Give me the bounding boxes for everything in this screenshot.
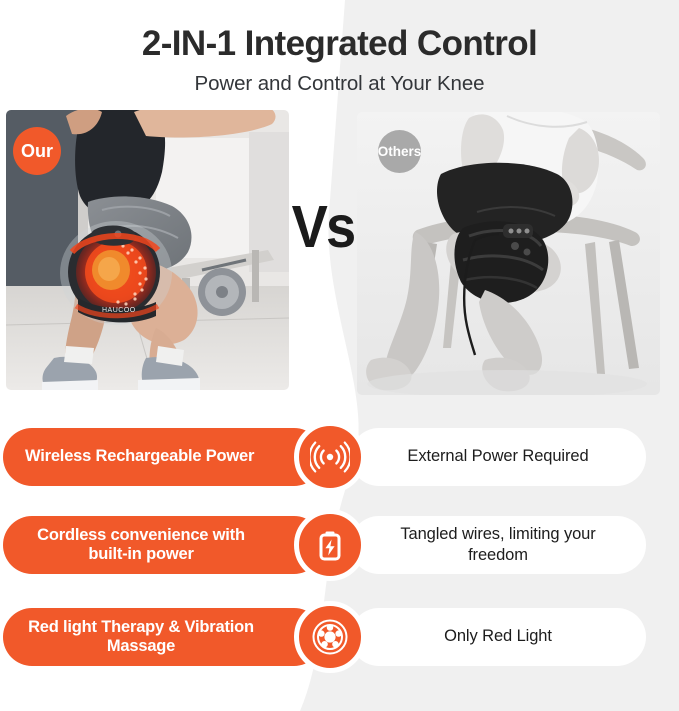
- our-feature-label: Red light Therapy & Vibration Massage: [21, 618, 261, 656]
- our-feature-label: Wireless Rechargeable Power: [25, 447, 254, 466]
- battery-charging-icon: [294, 509, 366, 581]
- page-title: 2-IN-1 Integrated Control: [0, 0, 679, 63]
- others-feature-label: Only Red Light: [444, 626, 552, 647]
- wireless-signal-icon: [294, 421, 366, 493]
- others-feature-label: External Power Required: [407, 446, 588, 467]
- our-feature-label: Cordless convenience with built-in power: [21, 526, 261, 564]
- others-feature-pill[interactable]: Only Red Light: [350, 608, 646, 666]
- our-badge-label: Our: [21, 141, 53, 162]
- comparison-rows: Wireless Rechargeable Power External Pow…: [0, 410, 679, 710]
- header: 2-IN-1 Integrated Control Power and Cont…: [0, 0, 679, 105]
- comparison-row: Wireless Rechargeable Power External Pow…: [0, 428, 679, 486]
- our-feature-pill[interactable]: Cordless convenience with built-in power: [3, 516, 323, 574]
- vibration-massage-icon: [294, 601, 366, 673]
- our-feature-pill[interactable]: Wireless Rechargeable Power: [3, 428, 323, 486]
- others-badge: Others: [378, 130, 421, 173]
- others-badge-label: Others: [378, 144, 422, 159]
- our-feature-pill[interactable]: Red light Therapy & Vibration Massage: [3, 608, 323, 666]
- others-feature-pill[interactable]: External Power Required: [350, 428, 646, 486]
- our-badge: Our: [13, 127, 61, 175]
- versus-label: Vs: [286, 198, 360, 257]
- comparison-infographic: 2-IN-1 Integrated Control Power and Cont…: [0, 0, 679, 711]
- others-feature-pill[interactable]: Tangled wires, limiting your freedom: [350, 516, 646, 574]
- page-subtitle: Power and Control at Your Knee: [0, 63, 679, 96]
- comparison-row: Red light Therapy & Vibration Massage On…: [0, 608, 679, 666]
- others-feature-label: Tangled wires, limiting your freedom: [374, 524, 622, 566]
- comparison-row: Cordless convenience with built-in power…: [0, 516, 679, 574]
